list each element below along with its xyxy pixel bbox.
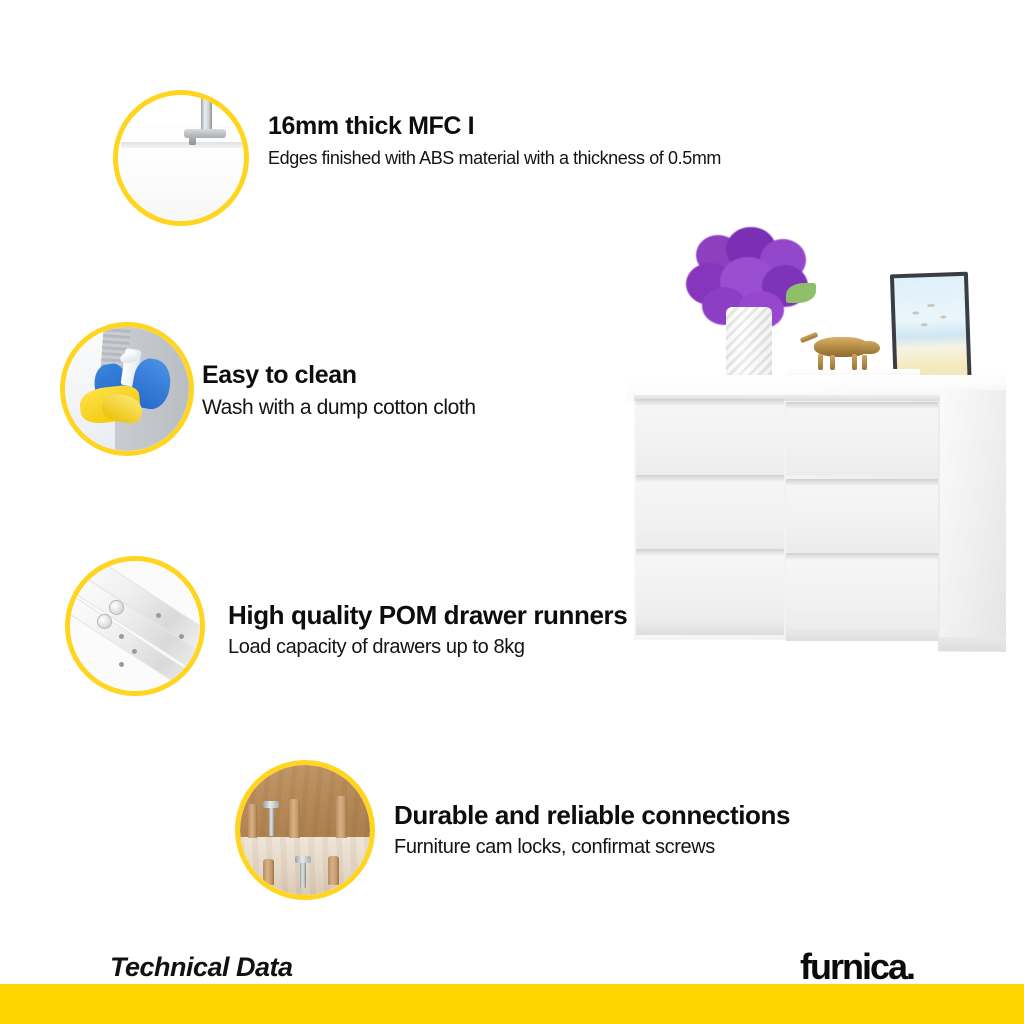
drawer-handle-groove[interactable] [786,402,938,409]
drawer-runner-rails-photo [65,556,205,696]
footer-yellow-bar [0,984,1024,1024]
wood-panel-back [240,765,370,840]
dresser-plinth-side [938,637,1006,651]
product-photo-white-6-drawer-chest [620,225,1024,655]
runner-hole-2 [179,634,184,639]
drawer[interactable] [636,403,784,475]
seagull [921,323,928,326]
panther-leg [818,354,823,370]
seagull [912,312,919,315]
dresser-plinth [636,623,784,635]
dowel-2 [289,799,299,838]
dresser-right-side-panel [938,390,1006,652]
drawer-handle-groove[interactable] [636,475,784,482]
runner-wheel-1 [109,600,124,615]
panther-leg [852,354,857,370]
wooden-dowels-cam-lock-photo [235,760,375,900]
dowel-3 [336,796,346,838]
drawer[interactable] [636,479,784,549]
dowel-1 [248,804,257,838]
ceramic-vase [726,307,772,385]
drawer-handle-groove[interactable] [636,549,784,556]
feature-title: Easy to clean [202,362,476,388]
drawer-handle-groove[interactable] [786,553,938,560]
confirmat-screw-head-1 [263,801,279,808]
runner-hole-1 [156,613,161,618]
feature-subtitle: Furniture cam locks, confirmat screws [394,836,790,859]
drawer[interactable] [786,483,938,553]
feature-title: Durable and reliable connections [394,802,790,829]
bronze-panther-figurine [800,329,886,373]
feature-subtitle: Load capacity of drawers up to 8kg [228,636,627,659]
panther-leg [830,355,835,370]
brand-logo-furnica: furnica. [800,946,914,988]
drawer[interactable] [636,553,784,623]
feature-subtitle: Edges finished with ABS material with a … [268,148,721,169]
gloved-hands-spray-cloth-photo [60,322,194,456]
footer-technical-data-label: Technical Data [110,952,293,983]
drawer[interactable] [786,557,938,629]
seagull [940,315,946,318]
confirmat-screw-head-2 [295,856,312,863]
board-edge-groove [121,142,244,148]
dowel-5 [328,856,338,885]
infographic-page: 16mm thick MFC I Edges finished with ABS… [0,0,1024,1024]
panther-head [860,341,880,354]
caliper-tip [189,134,197,145]
confirmat-screw-1 [269,805,274,836]
board-edge-caliper-photo [113,90,249,226]
drawer-handle-groove[interactable] [636,399,784,406]
feature-title: High quality POM drawer runners [228,602,627,629]
feature-title: 16mm thick MFC I [268,113,721,139]
confirmat-screw-2 [300,860,307,889]
feature-subtitle: Wash with a dump cotton cloth [202,396,476,420]
drawer[interactable] [786,403,938,475]
dowel-4 [263,859,273,885]
leaf [786,283,816,303]
dresser-plinth [786,629,938,641]
seagull [927,304,935,307]
panther-leg [862,355,867,370]
drawer-handle-groove[interactable] [786,479,938,486]
